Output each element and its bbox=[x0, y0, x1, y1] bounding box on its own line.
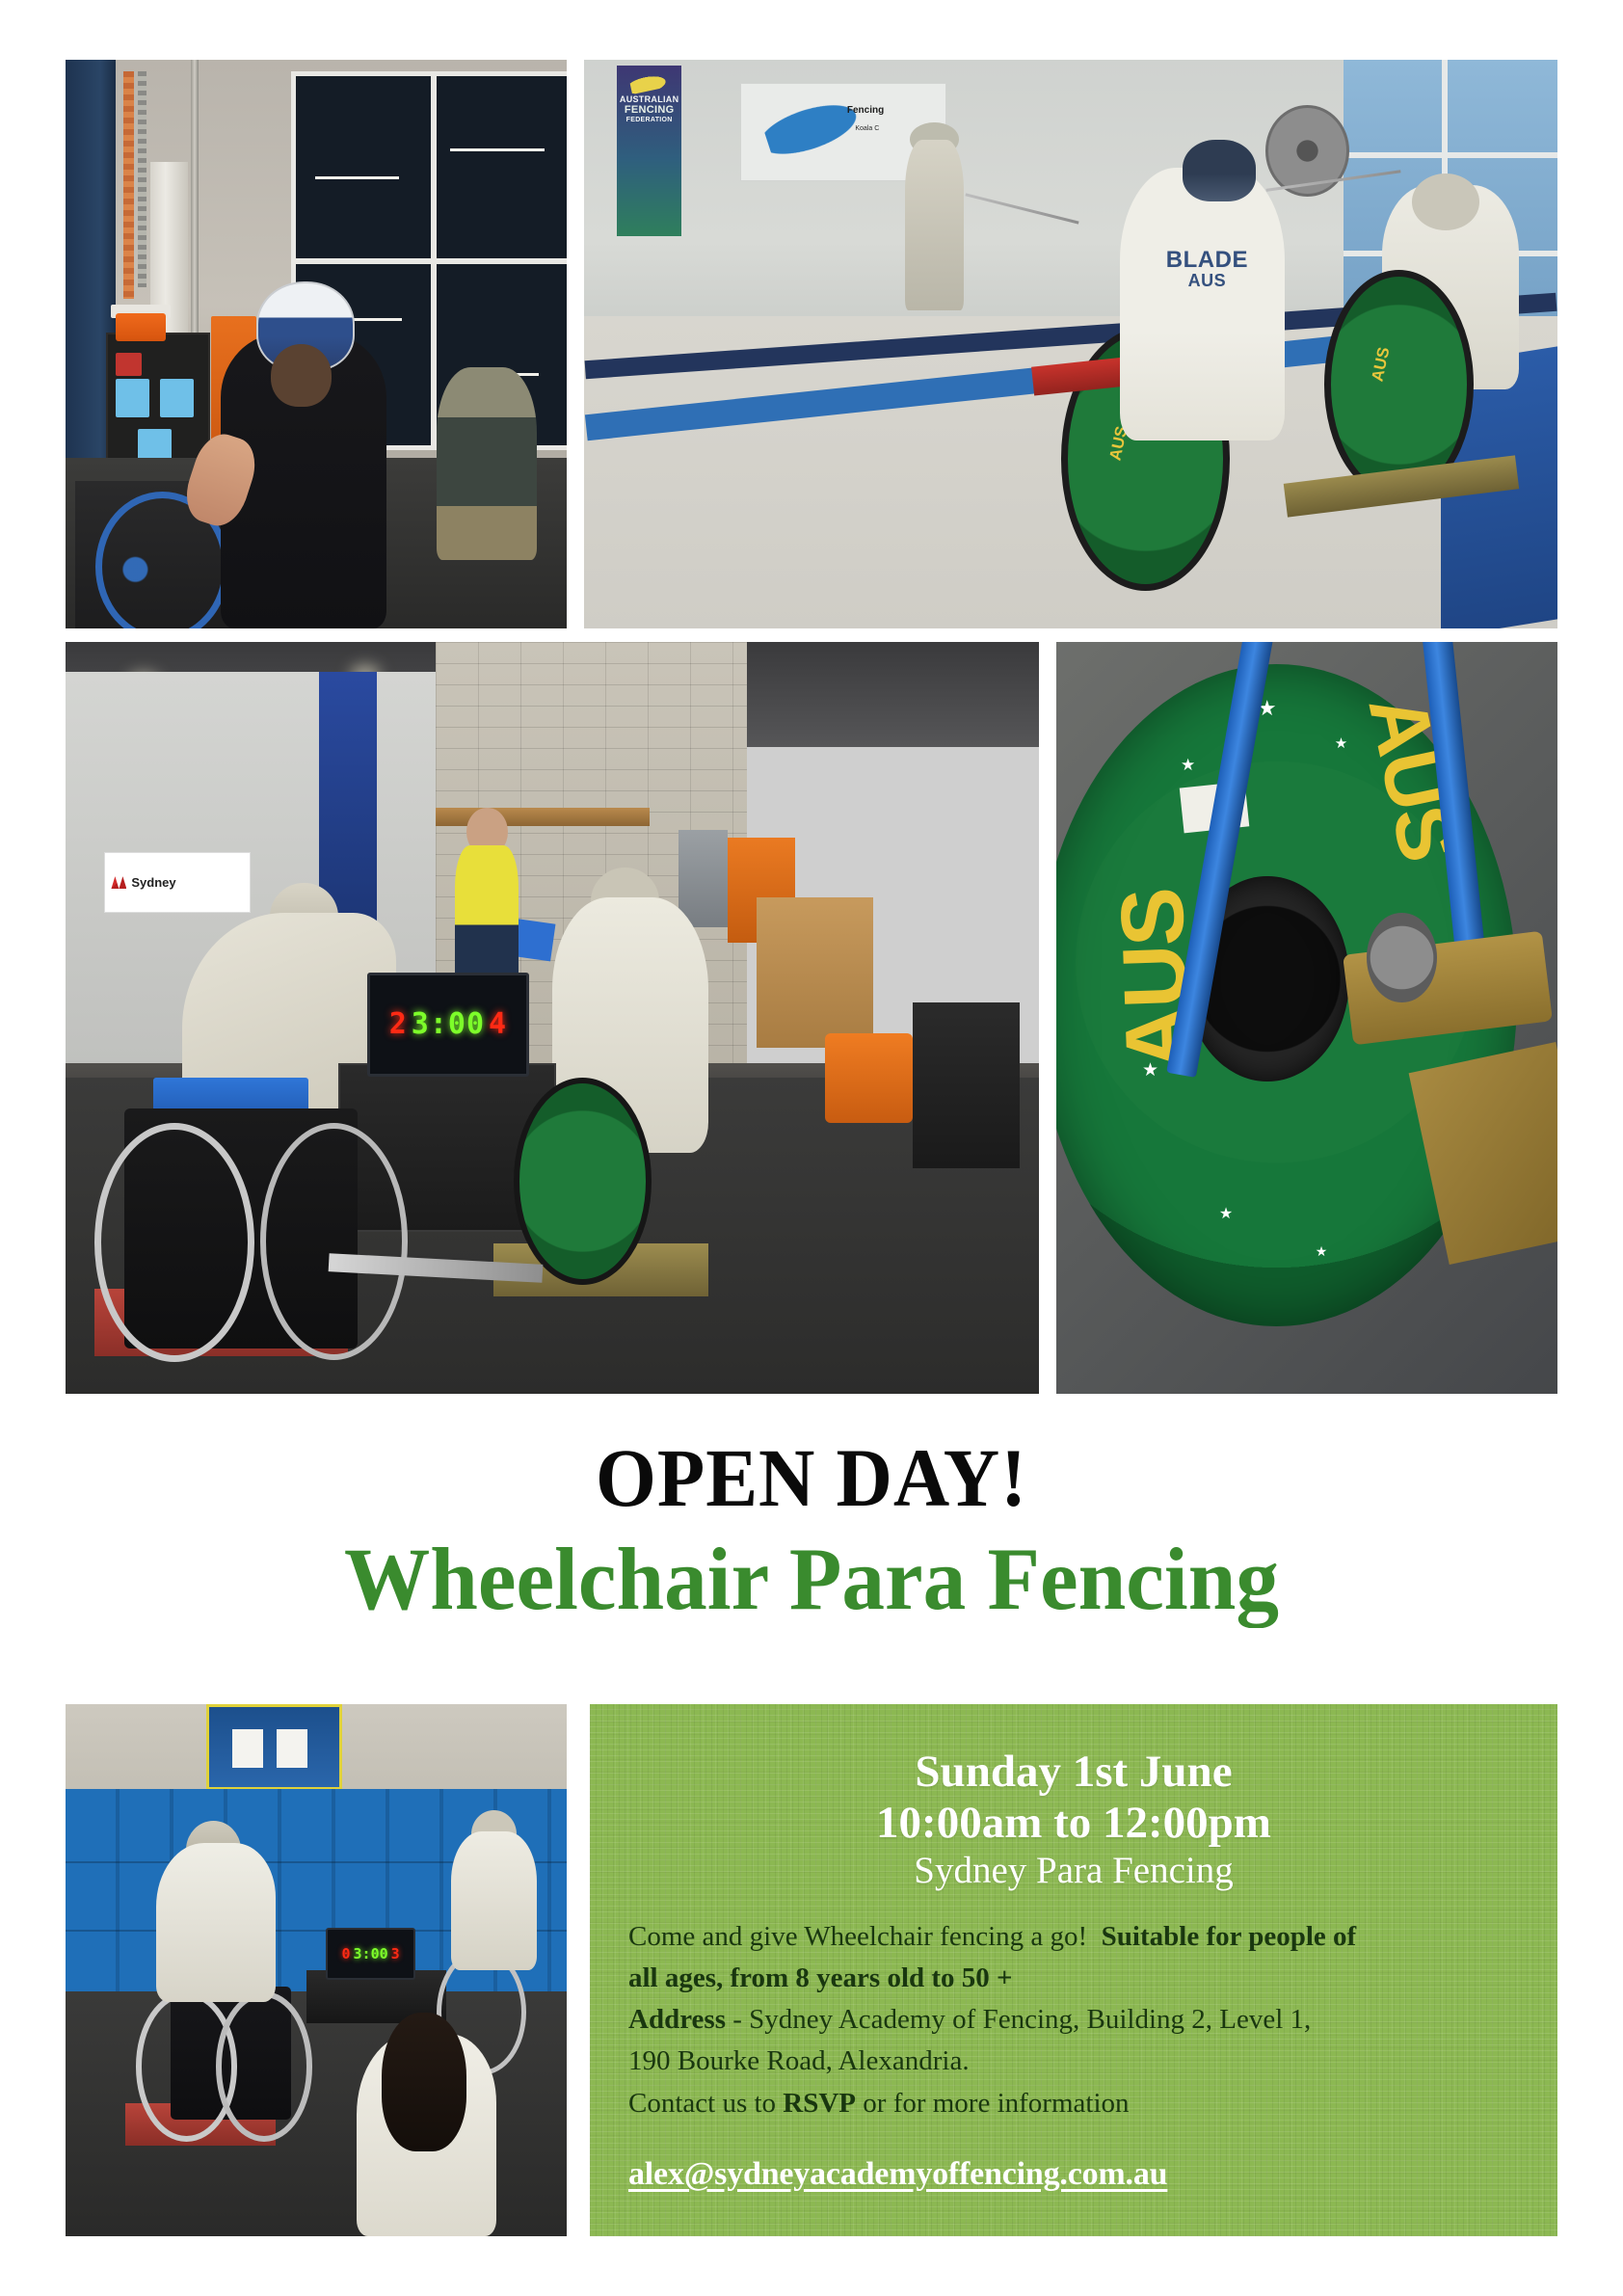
title-block: OPEN DAY! Wheelchair Para Fencing bbox=[0, 1436, 1623, 1625]
participant-hair bbox=[271, 344, 331, 407]
rsvp-pre-text: Contact us to bbox=[628, 2088, 783, 2119]
contact-email-link[interactable]: alex@sydneyacademyoffencing.com.au bbox=[628, 2156, 1167, 2192]
poster-subtitle: Koala C bbox=[855, 124, 879, 133]
sydney-venue-sign: Sydney bbox=[104, 852, 251, 912]
sydney-logo-icon bbox=[111, 876, 126, 889]
wheel-aus-text: AUS bbox=[1368, 345, 1394, 383]
banner-bird-icon bbox=[628, 71, 669, 94]
poster-title: Fencing bbox=[847, 105, 884, 116]
match-clock: 3:00 bbox=[412, 1007, 485, 1041]
southern-cross-star-icon: ★ bbox=[1219, 1207, 1233, 1222]
opponent-fencer bbox=[437, 367, 537, 561]
score-left: 0 bbox=[341, 1945, 350, 1962]
black-stool bbox=[913, 1002, 1020, 1168]
scoring-machine: 0 3:00 3 bbox=[326, 1928, 414, 1980]
photo-bottom-left: 0 3:00 3 bbox=[66, 1704, 567, 2236]
clamp-fitting bbox=[1367, 913, 1437, 1003]
background-fencer bbox=[905, 140, 964, 310]
wooden-cabinet bbox=[757, 897, 873, 1048]
notice-board bbox=[206, 1704, 342, 1790]
banner-line-3: FEDERATION bbox=[626, 117, 673, 124]
australian-fencing-federation-banner: AUSTRALIAN FENCING FEDERATION bbox=[617, 66, 681, 236]
address-value-1: - Sydney Academy of Fencing, Building 2,… bbox=[726, 2004, 1311, 2035]
window-pane bbox=[291, 71, 436, 263]
event-date: Sunday 1st June bbox=[628, 1747, 1519, 1798]
orange-kit-bag bbox=[825, 1033, 913, 1124]
event-organisation: Sydney Para Fencing bbox=[628, 1850, 1519, 1892]
contact-email-row: alex@sydneyacademyoffencing.com.au bbox=[628, 2156, 1519, 2193]
address-line-1: Address - Sydney Academy of Fencing, Bui… bbox=[628, 2000, 1519, 2040]
grey-conduit bbox=[138, 71, 146, 287]
southern-cross-star-icon: ★ bbox=[1316, 1246, 1328, 1260]
photo-middle-left: Sydney 2 3:00 4 bbox=[66, 642, 1039, 1394]
match-clock: 3:00 bbox=[354, 1945, 388, 1962]
wheelchair-wheel bbox=[260, 1123, 408, 1360]
fencer-right bbox=[451, 1831, 536, 1970]
suitable-text-bold: Suitable for people of bbox=[1102, 1921, 1357, 1952]
jacket-surname: BLADE bbox=[1166, 247, 1248, 273]
rsvp-line: Contact us to RSVP or for more informati… bbox=[628, 2084, 1519, 2123]
fencer-left bbox=[156, 1843, 277, 2003]
address-label: Address bbox=[628, 2004, 726, 2035]
wheelchair-wheel-aus bbox=[514, 1078, 652, 1285]
southern-cross-star-icon: ★ bbox=[1181, 757, 1195, 773]
description-line-1: Come and give Wheelchair fencing a go! S… bbox=[628, 1917, 1519, 1957]
blue-door bbox=[319, 672, 378, 927]
jacket-country: AUS bbox=[1149, 272, 1265, 290]
poster-title-sub: Wheelchair Para Fencing bbox=[24, 1533, 1598, 1626]
electrical-box bbox=[678, 830, 728, 927]
score-right: 4 bbox=[489, 1007, 507, 1041]
southern-cross-star-icon: ★ bbox=[1335, 737, 1347, 752]
wheelchair-wheel bbox=[94, 1123, 254, 1362]
main-fencer-mask bbox=[1183, 140, 1256, 202]
photo-top-right: AUSTRALIAN FENCING FEDERATION Fencing Ko… bbox=[584, 60, 1557, 628]
event-time: 10:00am to 12:00pm bbox=[628, 1798, 1519, 1849]
rsvp-label: RSVP bbox=[783, 2088, 856, 2119]
opponent-mask bbox=[1412, 174, 1480, 230]
poster-root: AUSTRALIAN FENCING FEDERATION Fencing Ko… bbox=[0, 0, 1623, 2296]
wheelchair-wheel bbox=[216, 1991, 312, 2142]
event-description: Come and give Wheelchair fencing a go! S… bbox=[628, 1917, 1519, 2123]
scoring-machine: 2 3:00 4 bbox=[367, 973, 529, 1076]
event-details-panel: Sunday 1st June 10:00am to 12:00pm Sydne… bbox=[590, 1704, 1557, 2236]
score-left: 2 bbox=[389, 1007, 408, 1041]
main-fencer-jacket bbox=[1120, 168, 1286, 441]
rsvp-post-text: or for more information bbox=[856, 2088, 1129, 2119]
come-and-give-text: Come and give Wheelchair fencing a go! bbox=[628, 1921, 1102, 1952]
poster-title-main: OPEN DAY! bbox=[49, 1436, 1575, 1521]
seated-observer-hair bbox=[382, 2013, 466, 2151]
orange-toolbox bbox=[116, 313, 166, 342]
description-line-2: all ages, from 8 years old to 50 + bbox=[628, 1959, 1519, 1998]
window-pane bbox=[432, 71, 567, 263]
sydney-sign-text: Sydney bbox=[131, 875, 175, 890]
jacket-name-text: BLADE AUS bbox=[1149, 248, 1265, 290]
event-headline: Sunday 1st June 10:00am to 12:00pm Sydne… bbox=[628, 1747, 1519, 1892]
ages-text-bold: all ages, from 8 years old to 50 + bbox=[628, 1962, 1013, 1993]
orange-conduit bbox=[123, 71, 134, 299]
banner-line-1: AUSTRALIAN bbox=[620, 94, 679, 104]
photo-top-left bbox=[66, 60, 567, 628]
photo-middle-right: ★ ★ ★ ★ ★ ★ AUS AUS bbox=[1056, 642, 1557, 1394]
banner-line-2: FENCING bbox=[625, 104, 675, 117]
score-right: 3 bbox=[391, 1945, 400, 1962]
address-line-2: 190 Bourke Road, Alexandria. bbox=[628, 2042, 1519, 2081]
